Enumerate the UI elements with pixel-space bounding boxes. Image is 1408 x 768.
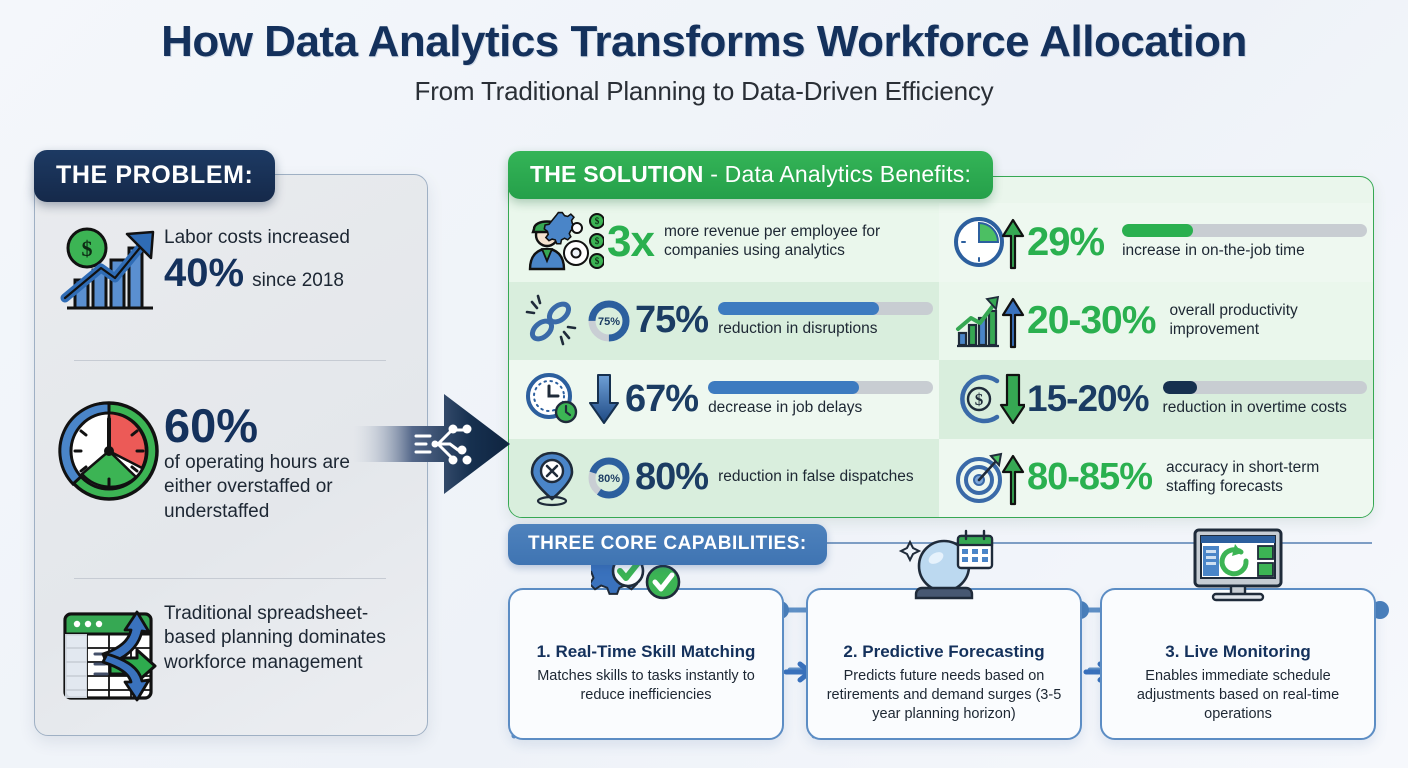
donut-chart-75: 75% xyxy=(583,289,635,353)
benefit-value: 29% xyxy=(1027,220,1104,265)
benefit-text: overall productivity improvement xyxy=(1169,302,1367,340)
benefit-text: reduction in overtime costs xyxy=(1163,399,1367,418)
capability-title: 2. Predictive Forecasting xyxy=(808,642,1080,662)
page-title: How Data Analytics Transforms Workforce … xyxy=(0,18,1408,66)
benefit-progress-bar xyxy=(708,381,933,394)
problem-item-text: Labor costs increased 40% since 2018 xyxy=(164,222,350,294)
svg-text:$: $ xyxy=(595,236,600,246)
benefits-grid: $$$ 3x more revenue per employee for com… xyxy=(509,203,1373,517)
clock-pie-icon xyxy=(54,398,164,504)
svg-text:$: $ xyxy=(595,256,600,266)
benefit-item: $$$ 3x more revenue per employee for com… xyxy=(509,203,939,282)
donut-label: 75% xyxy=(598,316,620,328)
capability-desc: Matches skills to tasks instantly to red… xyxy=(510,667,782,705)
benefit-text: increase in on-the-job time xyxy=(1122,242,1367,261)
broken-chain-icon xyxy=(521,289,583,353)
benefit-progress-bar xyxy=(718,302,933,315)
benefit-value: 3x xyxy=(607,217,654,267)
benefit-text: more revenue per employee for companies … xyxy=(664,223,933,261)
capabilities-badge: THREE CORE CAPABILITIES: xyxy=(508,524,827,565)
benefit-text: reduction in false dispatches xyxy=(718,468,933,487)
dollar-circle-down-icon: $ xyxy=(951,367,1027,431)
spreadsheet-body: Traditional spreadsheet-based planning d… xyxy=(164,602,404,675)
svg-text:$: $ xyxy=(595,216,600,226)
crystal-ball-calendar-icon xyxy=(808,528,1080,602)
benefit-item: 80% 80% reduction in false dispatches xyxy=(509,439,939,518)
benefit-value: 67% xyxy=(625,378,698,421)
benefit-value: 15-20% xyxy=(1027,378,1149,420)
down-arrow-blue-icon xyxy=(583,367,625,431)
benefit-item: 67% decrease in job delays xyxy=(509,360,939,439)
benefit-item: 20-30% overall productivity improvement xyxy=(939,282,1373,361)
capability-title: 3. Live Monitoring xyxy=(1102,642,1374,662)
problem-divider-2 xyxy=(74,578,386,579)
capability-card-3[interactable]: 3. Live Monitoring Enables immediate sch… xyxy=(1100,588,1376,740)
money-growth-chart-icon: $ xyxy=(54,222,164,318)
benefit-progress-bar xyxy=(1163,381,1367,394)
svg-text:$: $ xyxy=(82,236,93,261)
labor-cost-suffix: since 2018 xyxy=(252,270,344,292)
capability-desc: Predicts future needs based on retiremen… xyxy=(808,667,1080,724)
capability-desc: Enables immediate schedule adjustments b… xyxy=(1102,667,1374,724)
solution-badge-light: - Data Analytics Benefits: xyxy=(704,161,971,187)
labor-cost-stat: 40% xyxy=(164,252,244,294)
target-arrow-up-icon xyxy=(951,446,1027,510)
donut-label: 80% xyxy=(598,473,620,485)
labor-cost-lead: Labor costs increased xyxy=(164,226,350,250)
capability-title: 1. Real-Time Skill Matching xyxy=(510,642,782,662)
problem-item-text: Traditional spreadsheet-based planning d… xyxy=(164,598,404,675)
growth-chart-up-arrow-icon xyxy=(951,289,1027,353)
solution-badge-strong: THE SOLUTION xyxy=(530,161,704,187)
benefit-item: 75% 75% reduction in disruptions xyxy=(509,282,939,361)
benefit-value: 20-30% xyxy=(1027,299,1155,343)
page-subtitle: From Traditional Planning to Data-Driven… xyxy=(0,76,1408,107)
svg-text:$: $ xyxy=(975,390,984,409)
problem-item-labor-costs: $ Labor costs increased 40% since 2018 xyxy=(54,222,414,318)
capability-card-2[interactable]: 2. Predictive Forecasting Predicts futur… xyxy=(806,588,1082,740)
spreadsheet-arrows-icon xyxy=(54,598,164,704)
page-header: How Data Analytics Transforms Workforce … xyxy=(0,18,1408,107)
worker-gears-money-icon: $$$ xyxy=(521,210,607,274)
benefit-value: 80-85% xyxy=(1027,456,1152,499)
benefit-item: $ 15-20% reduction in overtime costs xyxy=(939,360,1373,439)
capability-card-1[interactable]: 1. Real-Time Skill Matching Matches skil… xyxy=(508,588,784,740)
problem-badge: THE PROBLEM: xyxy=(34,150,275,202)
clock-up-arrow-icon xyxy=(951,210,1027,274)
problem-divider-1 xyxy=(74,360,386,361)
benefit-item: 29% increase in on-the-job time xyxy=(939,203,1373,282)
transition-arrow xyxy=(352,388,512,500)
benefit-text: decrease in job delays xyxy=(708,399,933,418)
donut-chart-80: 80% xyxy=(583,446,635,510)
benefit-progress-bar xyxy=(1122,224,1367,237)
monitor-refresh-icon xyxy=(1102,528,1374,602)
clock-delay-icon xyxy=(521,367,583,431)
solution-panel: $$$ 3x more revenue per employee for com… xyxy=(508,176,1374,518)
benefit-value: 80% xyxy=(635,456,708,499)
problem-item-spreadsheet: Traditional spreadsheet-based planning d… xyxy=(54,598,414,704)
solution-badge: THE SOLUTION - Data Analytics Benefits: xyxy=(508,151,993,199)
location-pin-x-icon xyxy=(521,446,583,510)
benefit-text: reduction in disruptions xyxy=(718,320,933,339)
benefit-value: 75% xyxy=(635,299,708,342)
benefit-item: 80-85% accuracy in short-term staffing f… xyxy=(939,439,1373,518)
benefit-text: accuracy in short-term staffing forecast… xyxy=(1166,459,1367,497)
